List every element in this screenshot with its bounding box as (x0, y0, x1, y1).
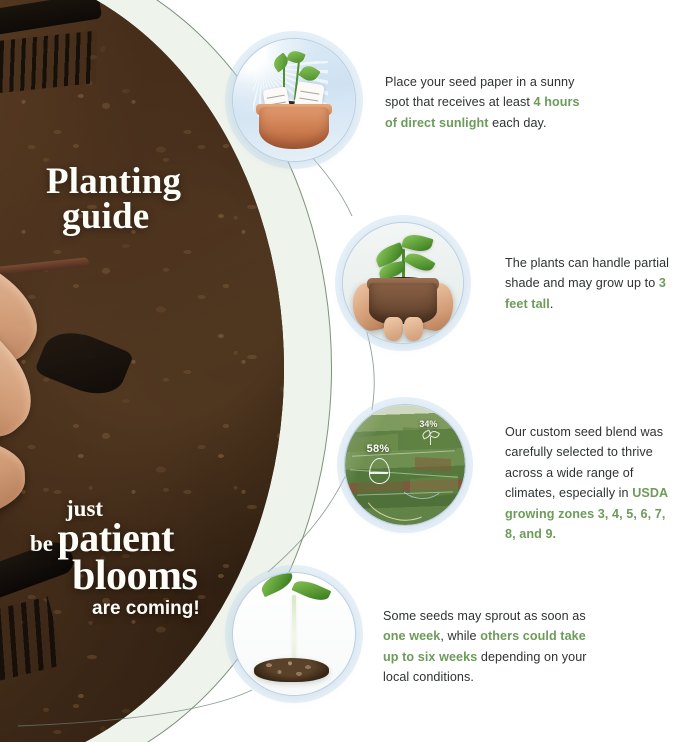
sprout-icon (422, 431, 440, 447)
tagline-word-coming: are coming! (30, 597, 200, 622)
water-drop-icon (369, 458, 390, 484)
step-text-shade: The plants can handle partial shade and … (505, 253, 673, 314)
body-text: The plants can handle partial shade and … (505, 256, 669, 290)
hero-tagline: just be patient blooms are coming! (30, 498, 200, 621)
highlight-text: one week (383, 629, 440, 643)
step-image-sunlight[interactable] (232, 38, 356, 162)
sprout-stem (292, 595, 296, 663)
step-image-zones[interactable]: 34% 58% (344, 404, 466, 526)
step-text-zones: Our custom seed blend was carefully sele… (505, 422, 677, 544)
finger (0, 434, 26, 526)
body-text: each day. (489, 116, 547, 130)
terracotta-pot (259, 107, 330, 148)
moisture-percent-label: 58% (367, 443, 390, 455)
page-title-line2: guide (46, 199, 181, 234)
finger (404, 317, 423, 341)
page-title: Planting guide (46, 164, 181, 234)
body-text: Some seeds may sprout as soon as (383, 609, 586, 623)
step-text-sprout-time: Some seeds may sprout as soon as one wee… (383, 606, 589, 688)
clay-pot (369, 283, 436, 324)
step-image-shade[interactable] (342, 222, 464, 344)
tagline-word-blooms: blooms (30, 557, 200, 597)
finger (384, 317, 403, 341)
planting-guide-infographic: Planting guide just be patient blooms ar… (0, 0, 679, 742)
step-image-sprout-time[interactable] (232, 572, 356, 696)
tagline-word-be: be (30, 531, 53, 556)
body-text: . (550, 297, 554, 311)
soil-texture (254, 658, 330, 681)
body-text: , while (440, 629, 480, 643)
step-text-sunlight: Place your seed paper in a sunny spot th… (385, 72, 595, 133)
secondary-percent-label: 34% (419, 419, 437, 429)
